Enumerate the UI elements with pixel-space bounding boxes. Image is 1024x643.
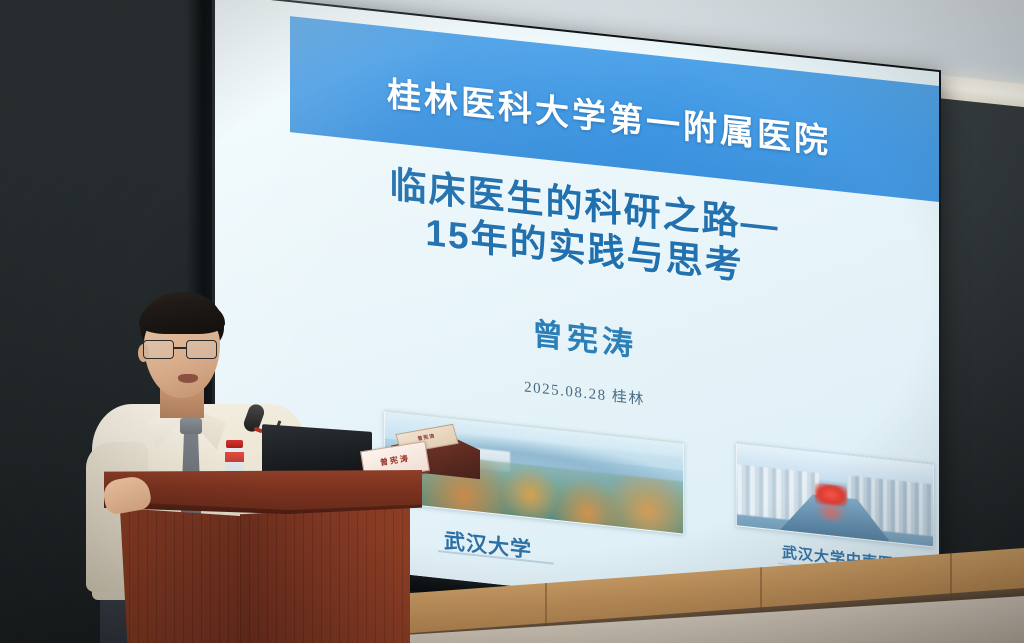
presenter-necktie-knot (180, 418, 202, 434)
conference-presentation-photo: 桂林医科大学第一附属医院 临床医生的科研之路— 15年的实践与思考 曾宪涛 20… (0, 0, 1024, 643)
lectern-body-left (120, 508, 242, 643)
presenter-glasses (142, 340, 222, 360)
wood-grain (120, 508, 242, 643)
lectern-body-right (240, 506, 410, 643)
photo-signboard-text: 曾宪涛 (398, 429, 455, 446)
presenter-mouth (178, 374, 198, 383)
water-bottle-cap (226, 440, 243, 448)
water-bottle-label (225, 452, 244, 462)
nameplate-text: 曾宪涛 (362, 450, 427, 471)
glasses-lens-left (143, 340, 174, 359)
glasses-lens-right (186, 340, 217, 359)
zhongnan-hospital-aerial-photo (736, 442, 934, 547)
glasses-bridge (174, 347, 186, 349)
wood-grain (240, 506, 410, 643)
slide-header-banner-text: 桂林医科大学第一附属医院 (290, 56, 928, 174)
photo-red-reflection (817, 501, 844, 524)
